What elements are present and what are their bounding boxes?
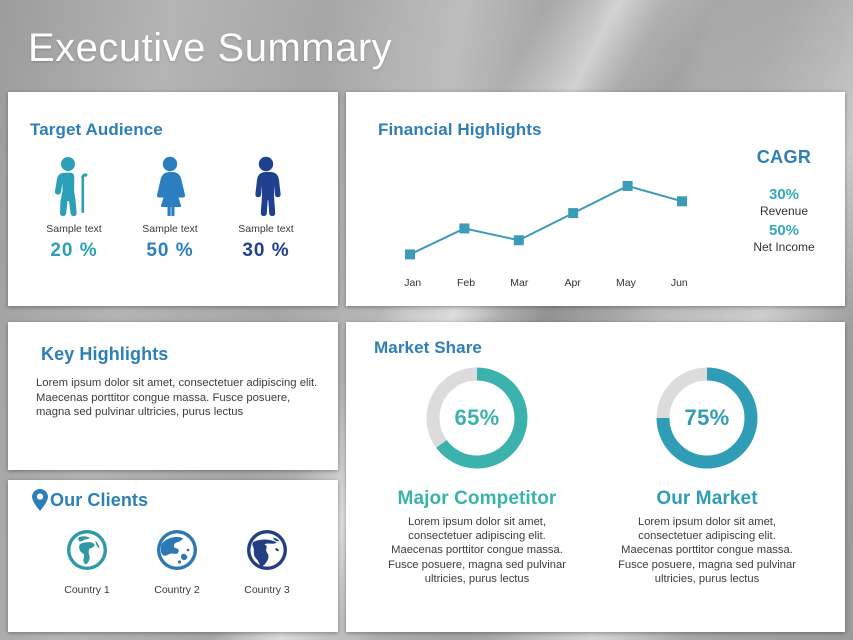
financial-highlights-title: Financial Highlights	[378, 120, 542, 140]
chart-x-axis: Jan Feb Mar Apr May Jun	[386, 277, 706, 289]
our-clients-title: Our Clients	[50, 490, 148, 511]
market-segment-our-market: 75% Our Market Lorem ipsum dolor sit ame…	[592, 362, 822, 586]
client-item-2[interactable]: Country 2	[132, 525, 222, 596]
axis-tick-label: May	[599, 277, 652, 289]
segment-body: Lorem ipsum dolor sit amet, consectetuer…	[612, 515, 802, 586]
woman-icon	[122, 154, 218, 216]
donut-chart-our-market[interactable]: 75%	[651, 362, 763, 474]
client-label: Country 2	[132, 584, 222, 596]
globe-africa-icon	[222, 525, 312, 575]
target-audience-title: Target Audience	[30, 120, 163, 140]
chart-data-point[interactable]	[514, 235, 524, 245]
segment-body: Lorem ipsum dolor sit amet, consectetuer…	[382, 515, 572, 586]
elderly-person-icon	[26, 154, 122, 216]
segment-heading: Major Competitor	[362, 488, 592, 510]
persona-label: Sample text	[26, 223, 122, 235]
globe-asia-icon	[132, 525, 222, 575]
chart-line	[410, 186, 682, 254]
key-highlights-card: Key Highlights Lorem ipsum dolor sit ame…	[8, 322, 338, 470]
target-audience-card: Target Audience Sample text 20 %	[8, 92, 338, 306]
donut-chart-major-competitor[interactable]: 65%	[421, 362, 533, 474]
client-label: Country 1	[42, 584, 132, 596]
persona-list: Sample text 20 % Sample text 50 %	[26, 154, 322, 262]
persona-value: 30 %	[218, 240, 314, 262]
revenue-line-chart	[386, 144, 706, 294]
persona-item-2[interactable]: Sample text 50 %	[122, 154, 218, 262]
chart-data-point[interactable]	[405, 249, 415, 259]
axis-tick-label: Jun	[653, 277, 706, 289]
key-highlights-title: Key Highlights	[41, 344, 168, 365]
persona-value: 50 %	[122, 240, 218, 262]
financial-highlights-card: Financial Highlights Jan Feb Mar Apr May…	[346, 92, 845, 306]
market-segment-major-competitor: 65% Major Competitor Lorem ipsum dolor s…	[362, 362, 592, 586]
persona-label: Sample text	[218, 223, 314, 235]
client-item-1[interactable]: Country 1	[42, 525, 132, 596]
key-highlights-body: Lorem ipsum dolor sit amet, consectetuer…	[36, 376, 321, 420]
axis-tick-label: Feb	[439, 277, 492, 289]
persona-item-3[interactable]: Sample text 30 %	[218, 154, 314, 262]
donut-center-label: 75%	[651, 362, 763, 474]
client-label: Country 3	[222, 584, 312, 596]
globe-americas-icon	[42, 525, 132, 575]
axis-tick-label: Jan	[386, 277, 439, 289]
cagr-block: CAGR 30% Revenue 50% Net Income	[730, 147, 838, 254]
chart-data-point[interactable]	[568, 208, 578, 218]
chart-data-point[interactable]	[459, 223, 469, 233]
cagr-value-revenue: 30%	[730, 186, 838, 203]
persona-label: Sample text	[122, 223, 218, 235]
chart-data-point[interactable]	[623, 181, 633, 191]
axis-tick-label: Mar	[493, 277, 546, 289]
page-title: Executive Summary	[28, 26, 392, 71]
segment-heading: Our Market	[592, 488, 822, 510]
axis-tick-label: Apr	[546, 277, 599, 289]
persona-value: 20 %	[26, 240, 122, 262]
location-pin-icon	[31, 488, 49, 512]
chart-data-point[interactable]	[677, 196, 687, 206]
client-item-3[interactable]: Country 3	[222, 525, 312, 596]
executive-summary-slide: Executive Summary Target Audience Sample	[0, 0, 853, 640]
cagr-label-revenue: Revenue	[730, 204, 838, 218]
cagr-heading: CAGR	[730, 147, 838, 168]
cagr-value-net-income: 50%	[730, 222, 838, 239]
our-clients-card: Our Clients Country 1	[8, 480, 338, 632]
client-list: Country 1 Country 2	[42, 525, 326, 596]
cagr-label-net-income: Net Income	[730, 240, 838, 254]
persona-item-1[interactable]: Sample text 20 %	[26, 154, 122, 262]
man-icon	[218, 154, 314, 216]
donut-center-label: 65%	[421, 362, 533, 474]
market-share-title: Market Share	[374, 338, 482, 358]
market-share-card: Market Share 65% Major Competitor Lorem …	[346, 322, 845, 632]
